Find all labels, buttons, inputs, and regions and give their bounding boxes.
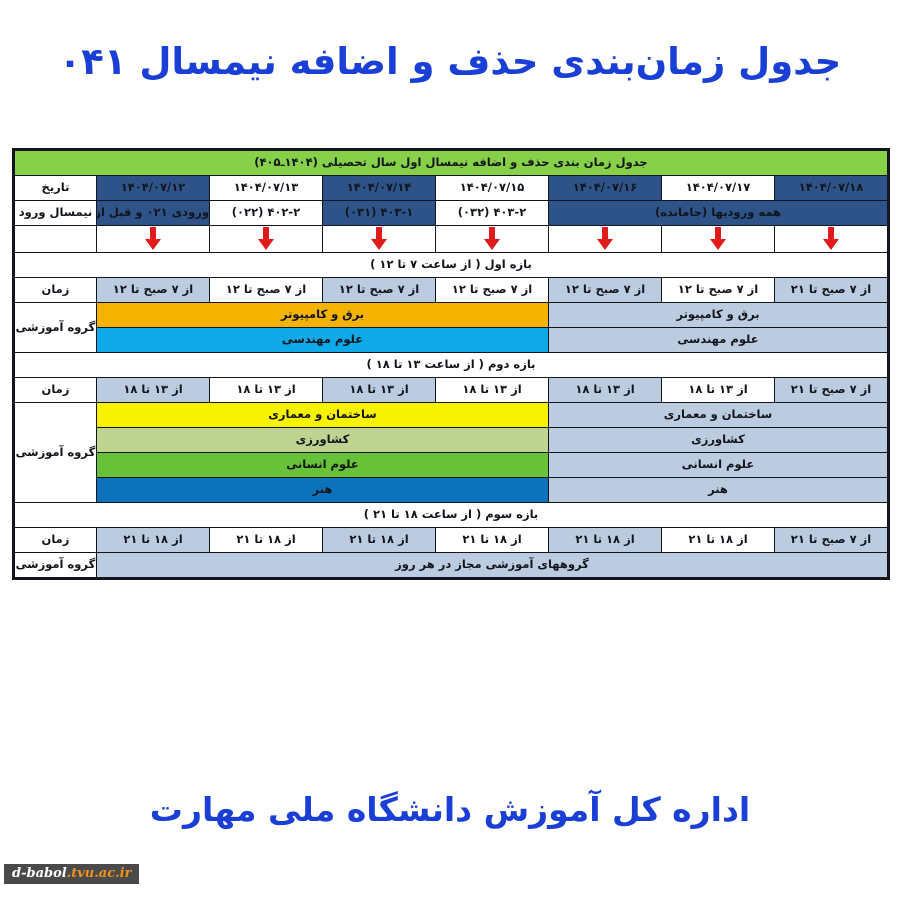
- p1-time-6: از ۷ صبح تا ۱۲: [97, 278, 210, 303]
- watermark: d-babol.tvu.ac.ir: [4, 864, 139, 884]
- date-cell-0: ۱۴۰۴/۰۷/۱۸: [775, 176, 888, 201]
- p1-time-1: از ۷ صبح تا ۱۲: [662, 278, 775, 303]
- row-label-group-p1: گروه آموزشی: [14, 303, 96, 353]
- row-label-entry-semester: نیمسال ورود: [14, 201, 96, 226]
- row-label-group-p3: گروه آموزشی: [14, 553, 96, 578]
- period-2-band-row: بازه دوم ( از ساعت ۱۳ تا ۱۸ ): [14, 353, 887, 378]
- down-arrow-icon-1: [662, 226, 775, 253]
- entry-semester-cell-0: ۴۰۳-۲ (۰۳۲): [436, 201, 549, 226]
- period-1-band: بازه اول ( از ساعت ۷ تا ۱۲ ): [14, 253, 887, 278]
- p1-time-3: از ۷ صبح تا ۱۲: [436, 278, 549, 303]
- p3-time-2: از ۱۸ تا ۲۱: [549, 528, 662, 553]
- p1-g0-active: برق و کامپیوتر: [97, 303, 549, 328]
- period-2-band: بازه دوم ( از ساعت ۱۳ تا ۱۸ ): [14, 353, 887, 378]
- date-cell-6: ۱۴۰۴/۰۷/۱۲: [97, 176, 210, 201]
- date-cell-2: ۱۴۰۴/۰۷/۱۶: [549, 176, 662, 201]
- entry-semester-cell-1: ۴۰۳-۱ (۰۳۱): [323, 201, 436, 226]
- down-arrow-icon-0: [775, 226, 888, 253]
- p2-time-5: از ۱۳ تا ۱۸: [210, 378, 323, 403]
- p3-time-4: از ۱۸ تا ۲۱: [323, 528, 436, 553]
- down-arrow-icon-4: [323, 226, 436, 253]
- p1-g1-active: علوم مهندسی: [97, 328, 549, 353]
- p2-time-6: از ۱۳ تا ۱۸: [97, 378, 210, 403]
- period-1-band-row: بازه اول ( از ساعت ۷ تا ۱۲ ): [14, 253, 887, 278]
- p3-time-6: از ۱۸ تا ۲۱: [97, 528, 210, 553]
- period-2-group-row-3: هنر هنر: [14, 478, 887, 503]
- date-cell-3: ۱۴۰۴/۰۷/۱۵: [436, 176, 549, 201]
- p2-g1-active: کشاورزی: [97, 428, 549, 453]
- p3-time-1: از ۱۸ تا ۲۱: [662, 528, 775, 553]
- period-3-time-row: از ۷ صبح تا ۲۱ از ۱۸ تا ۲۱ از ۱۸ تا ۲۱ ا…: [14, 528, 887, 553]
- period-1-group-row-0: برق و کامپیوتر برق و کامپیوتر گروه آموزش…: [14, 303, 887, 328]
- entry-semester-row: همه ورودیها (جامانده) ۴۰۳-۲ (۰۳۲) ۴۰۳-۱ …: [14, 201, 887, 226]
- p2-time-2: از ۱۳ تا ۱۸: [549, 378, 662, 403]
- period-3-band-row: بازه سوم ( از ساعت ۱۸ تا ۲۱ ): [14, 503, 887, 528]
- period-3-group-row: گروههای آموزشی مجاز در هر روز گروه آموزش…: [14, 553, 887, 578]
- date-cell-1: ۱۴۰۴/۰۷/۱۷: [662, 176, 775, 201]
- down-arrow-icon-6: [97, 226, 210, 253]
- schedule-table-container: جدول زمان بندی حذف و اضافه نیمسال اول سا…: [12, 148, 890, 580]
- p1-time-4: از ۷ صبح تا ۱۲: [323, 278, 436, 303]
- arrow-row-spacer: [14, 226, 96, 253]
- p1-time-2: از ۷ صبح تا ۱۲: [549, 278, 662, 303]
- period-3-band: بازه سوم ( از ساعت ۱۸ تا ۲۱ ): [14, 503, 887, 528]
- p1-g0-inactive: برق و کامپیوتر: [549, 303, 888, 328]
- p2-time-4: از ۱۳ تا ۱۸: [323, 378, 436, 403]
- period-2-group-row-0: ساختمان و معماری ساختمان و معماری گروه آ…: [14, 403, 887, 428]
- date-row: ۱۴۰۴/۰۷/۱۸ ۱۴۰۴/۰۷/۱۷ ۱۴۰۴/۰۷/۱۶ ۱۴۰۴/۰۷…: [14, 176, 887, 201]
- p2-time-1: از ۱۳ تا ۱۸: [662, 378, 775, 403]
- row-label-time-p3: زمان: [14, 528, 96, 553]
- p1-g1-inactive: علوم مهندسی: [549, 328, 888, 353]
- entry-semester-merged: همه ورودیها (جامانده): [549, 201, 888, 226]
- p2-time-0: از ۷ صبح تا ۲۱: [775, 378, 888, 403]
- period-1-group-row-1: علوم مهندسی علوم مهندسی: [14, 328, 887, 353]
- p1-time-0: از ۷ صبح تا ۲۱: [775, 278, 888, 303]
- row-label-group-p2: گروه آموزشی: [14, 403, 96, 503]
- footer-title: اداره کل آموزش دانشگاه ملی مهارت: [0, 790, 900, 829]
- row-label-time-p2: زمان: [14, 378, 96, 403]
- p2-g2-inactive: علوم انسانی: [549, 453, 888, 478]
- p2-g0-inactive: ساختمان و معماری: [549, 403, 888, 428]
- p3-time-3: از ۱۸ تا ۲۱: [436, 528, 549, 553]
- p2-g3-active: هنر: [97, 478, 549, 503]
- arrow-row: [14, 226, 887, 253]
- page-title: جدول زمان‌بندی حذف و اضافه نیمسال ۰۴۱: [0, 40, 900, 83]
- p3-time-5: از ۱۸ تا ۲۱: [210, 528, 323, 553]
- date-cell-5: ۱۴۰۴/۰۷/۱۳: [210, 176, 323, 201]
- period-1-time-row: از ۷ صبح تا ۲۱ از ۷ صبح تا ۱۲ از ۷ صبح ت…: [14, 278, 887, 303]
- entry-semester-cell-3: ورودی ۰۲۱ و قبل از آن: [97, 201, 210, 226]
- watermark-name: d-babol: [12, 866, 67, 881]
- p2-g1-inactive: کشاورزی: [549, 428, 888, 453]
- date-cell-4: ۱۴۰۴/۰۷/۱۴: [323, 176, 436, 201]
- p2-g0-active: ساختمان و معماری: [97, 403, 549, 428]
- down-arrow-icon-2: [549, 226, 662, 253]
- p1-time-5: از ۷ صبح تا ۱۲: [210, 278, 323, 303]
- p2-g3-inactive: هنر: [549, 478, 888, 503]
- table-caption-row: جدول زمان بندی حذف و اضافه نیمسال اول سا…: [14, 151, 887, 176]
- poster-page: جدول زمان‌بندی حذف و اضافه نیمسال ۰۴۱ جد…: [0, 0, 900, 900]
- p2-time-3: از ۱۳ تا ۱۸: [436, 378, 549, 403]
- table-caption: جدول زمان بندی حذف و اضافه نیمسال اول سا…: [14, 151, 887, 176]
- down-arrow-icon-3: [436, 226, 549, 253]
- period-2-time-row: از ۷ صبح تا ۲۱ از ۱۳ تا ۱۸ از ۱۳ تا ۱۸ ا…: [14, 378, 887, 403]
- schedule-table: جدول زمان بندی حذف و اضافه نیمسال اول سا…: [14, 150, 888, 578]
- down-arrow-icon-5: [210, 226, 323, 253]
- entry-semester-cell-2: ۴۰۲-۲ (۰۲۲): [210, 201, 323, 226]
- row-label-time-p1: زمان: [14, 278, 96, 303]
- watermark-domain: .tvu.ac.ir: [67, 866, 132, 881]
- row-label-date: تاریخ: [14, 176, 96, 201]
- period-2-group-row-2: علوم انسانی علوم انسانی: [14, 453, 887, 478]
- period-2-group-row-1: کشاورزی کشاورزی: [14, 428, 887, 453]
- p3-time-0: از ۷ صبح تا ۲۱: [775, 528, 888, 553]
- p3-all-groups-note: گروههای آموزشی مجاز در هر روز: [97, 553, 888, 578]
- p2-g2-active: علوم انسانی: [97, 453, 549, 478]
